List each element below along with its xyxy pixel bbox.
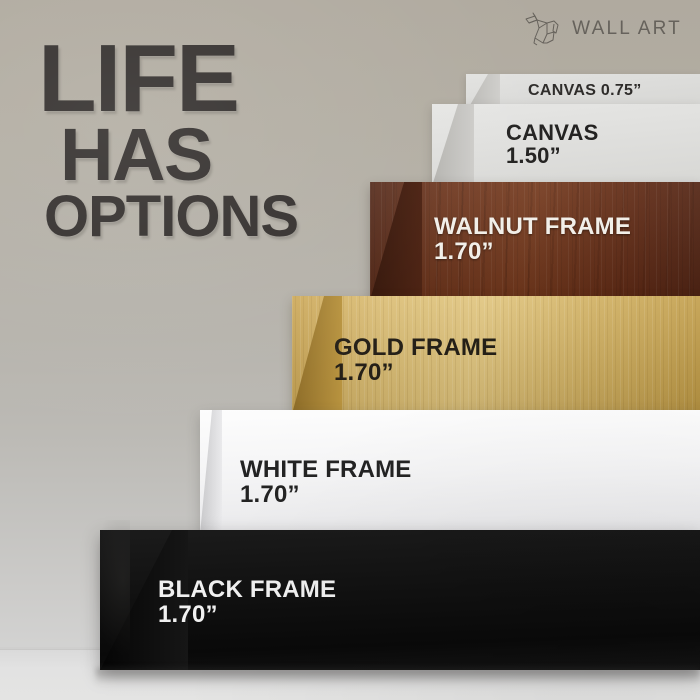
option-title: CANVAS xyxy=(506,120,598,145)
option-label-walnut-frame: WALNUT FRAME 1.70” xyxy=(434,215,631,265)
option-title: CANVAS 0.75” xyxy=(528,82,642,99)
option-depth: 1.70” xyxy=(434,240,631,265)
option-label-gold-frame: GOLD FRAME 1.70” xyxy=(334,336,497,386)
layer-side-facet xyxy=(370,182,422,300)
product-options-poster: LIFE HAS OPTIONS WALL ART CANVAS 0.75” xyxy=(0,0,700,700)
option-label-white-frame: WHITE FRAME 1.70” xyxy=(240,458,412,508)
option-layer-white-frame[interactable]: WHITE FRAME 1.70” xyxy=(200,410,700,534)
option-layer-walnut-frame[interactable]: WALNUT FRAME 1.70” xyxy=(370,182,700,300)
option-layer-canvas-150[interactable]: CANVAS 1.50” xyxy=(432,104,700,186)
option-title: GOLD FRAME xyxy=(334,334,497,361)
option-label-canvas-075: CANVAS 0.75” xyxy=(528,83,642,100)
frame-options-stack: CANVAS 0.75” CANVAS 1.50” WALNUT FRAME 1… xyxy=(0,0,700,700)
option-depth: 1.50” xyxy=(506,145,598,168)
option-depth: 1.70” xyxy=(334,361,497,386)
option-title: BLACK FRAME xyxy=(158,576,336,603)
option-depth: 1.70” xyxy=(158,603,336,628)
layer-side-facet xyxy=(200,410,222,534)
layer-side-facet xyxy=(432,104,474,186)
option-layer-black-frame[interactable]: BLACK FRAME 1.70” xyxy=(100,530,700,670)
option-depth: 1.70” xyxy=(240,483,412,508)
option-layer-gold-frame[interactable]: GOLD FRAME 1.70” xyxy=(292,296,700,414)
option-label-black-frame: BLACK FRAME 1.70” xyxy=(158,578,336,628)
option-label-canvas-150: CANVAS 1.50” xyxy=(506,122,598,168)
option-title: WALNUT FRAME xyxy=(434,213,631,240)
option-title: WHITE FRAME xyxy=(240,456,412,483)
